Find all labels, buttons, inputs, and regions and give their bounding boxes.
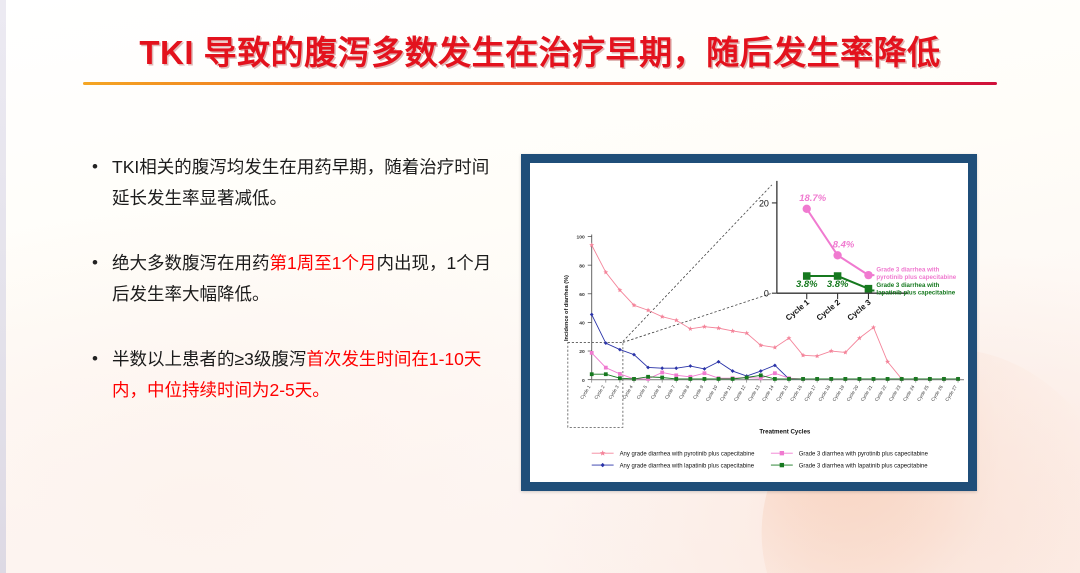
x-tick-label: Cycle 5 [636, 384, 649, 400]
bullet-marker: • [92, 152, 112, 214]
series-point [829, 377, 833, 381]
series-point [688, 326, 693, 331]
series-point [632, 377, 636, 381]
series-point [787, 377, 791, 381]
inset-y-tick-label: 20 [759, 198, 769, 208]
series-point [618, 372, 622, 376]
x-tick-label: Cycle 1 [579, 384, 592, 400]
legend-label: Any grade diarrhea with pyrotinib plus c… [620, 452, 755, 458]
legend-swatch-marker [780, 451, 784, 455]
inset-series-point [833, 251, 841, 259]
series-point [885, 359, 890, 364]
inset-data-label: 3.8% [827, 279, 849, 290]
y-tick-label: 0 [582, 378, 585, 384]
series-point [703, 371, 707, 375]
series-point [604, 341, 608, 345]
legend-label: Grade 3 diarrhea with pyrotinib plus cap… [799, 452, 929, 458]
diarrhea-incidence-chart: 020406080100Incidence of diarrhea (%)Cyc… [530, 163, 968, 482]
inset-x-tick-label: Cycle 3 [846, 297, 874, 322]
x-tick-label: Cycle 19 [832, 384, 846, 402]
bullet-plain-segment: 绝大多数腹泻在用药 [112, 253, 270, 273]
legend-swatch-marker [600, 450, 606, 455]
x-tick-label: Cycle 21 [860, 384, 874, 402]
x-tick-label: Cycle 13 [747, 384, 761, 402]
x-tick-label: Cycle 9 [692, 384, 705, 400]
chart-inner: 020406080100Incidence of diarrhea (%)Cyc… [530, 163, 968, 482]
series-point [815, 377, 819, 381]
series-point [730, 328, 735, 333]
series-point [660, 376, 664, 380]
series-point [716, 326, 721, 331]
bullet-plain-segment: 半数以上患者的≥3级腹泻 [112, 349, 306, 369]
inset-x-tick-label: Cycle 2 [815, 297, 843, 322]
x-tick-label: Cycle 24 [902, 384, 916, 402]
x-tick-label: Cycle 14 [761, 384, 775, 402]
x-tick-label: Cycle 3 [607, 384, 620, 400]
series-point [688, 377, 692, 381]
series-point [928, 377, 932, 381]
x-tick-label: Cycle 25 [916, 384, 930, 402]
legend-label: Grade 3 diarrhea with lapatinib plus cap… [799, 463, 929, 469]
bullet-marker: • [92, 344, 112, 406]
series-point [801, 377, 805, 381]
x-tick-label: Cycle 27 [944, 384, 958, 402]
inset-data-label: 3.8% [796, 279, 818, 290]
x-tick-label: Cycle 2 [593, 384, 606, 400]
series-point [674, 366, 678, 370]
x-tick-label: Cycle 18 [817, 384, 831, 402]
series-point [858, 377, 862, 381]
title-underline-rule [83, 82, 997, 85]
series-point [674, 377, 678, 381]
series-point [772, 345, 777, 350]
inset-data-label: 8.4% [833, 239, 855, 250]
x-tick-label: Cycle 22 [874, 384, 888, 402]
series-point [745, 376, 749, 380]
x-tick-label: Cycle 7 [664, 384, 677, 400]
inset-legend-pyrotinib-line1: Grade 3 diarrhea with [876, 267, 939, 274]
left-edge-strip [0, 0, 6, 573]
x-tick-label: Cycle 4 [622, 384, 635, 400]
inset-x-tick-label: Cycle 1 [784, 297, 812, 322]
bullet-item: •TKI相关的腹泻均发生在用药早期，随着治疗时间延长发生率显著减低。 [92, 152, 492, 214]
inset-data-label: 18.7% [799, 193, 826, 204]
bullet-list: •TKI相关的腹泻均发生在用药早期，随着治疗时间延长发生率显著减低。•绝大多数腹… [92, 152, 492, 440]
legend-swatch-marker [600, 463, 604, 467]
y-tick-label: 60 [579, 292, 585, 298]
series-point [618, 376, 622, 380]
series-point [618, 348, 622, 352]
y-axis-title: Incidence of diarrhea (%) [564, 275, 570, 341]
series-point [590, 351, 594, 355]
series-point [604, 366, 608, 370]
inset-legend-pyrotinib-line2: pyrotinib plus capecitabine [876, 274, 956, 281]
series-point [703, 367, 707, 371]
series-point [603, 270, 608, 275]
x-tick-label: Cycle 10 [705, 384, 719, 402]
bullet-marker: • [92, 248, 112, 310]
x-tick-label: Cycle 17 [803, 384, 817, 402]
x-axis-title: Treatment Cycles [759, 428, 811, 435]
series-point [731, 377, 735, 381]
x-tick-label: Cycle 20 [846, 384, 860, 402]
y-tick-label: 20 [579, 349, 585, 355]
inset-legend-lapatinib-line1: Grade 3 diarrhea with [876, 282, 939, 289]
series-point [900, 377, 904, 381]
series-point [872, 377, 876, 381]
x-tick-label: Cycle 16 [789, 384, 803, 402]
series-point [590, 372, 594, 376]
series-point [759, 373, 763, 377]
series-point [886, 377, 890, 381]
bullet-text: TKI相关的腹泻均发生在用药早期，随着治疗时间延长发生率显著减低。 [112, 152, 492, 214]
y-tick-label: 40 [579, 321, 585, 327]
bullet-plain-segment: TKI相关的腹泻均发生在用药早期，随着治疗时间延长发生率显著减低。 [112, 157, 489, 208]
inset-series-point [803, 205, 811, 213]
series-point [702, 324, 707, 329]
series-point [829, 348, 834, 353]
inset-legend-lapatinib-line2: lapatinib plus capecitabine [876, 289, 955, 296]
x-tick-label: Cycle 26 [930, 384, 944, 402]
bullet-text: 半数以上患者的≥3级腹泻首次发生时间在1-10天内，中位持续时间为2-5天。 [112, 344, 492, 406]
chart-panel: 020406080100Incidence of diarrhea (%)Cyc… [521, 154, 977, 491]
series-point [773, 377, 777, 381]
series-point [815, 353, 820, 358]
slide: TKI 导致的腹泻多数发生在治疗早期，随后发生率降低 •TKI相关的腹泻均发生在… [0, 0, 1080, 573]
page-title: TKI 导致的腹泻多数发生在治疗早期，随后发生率降低 [0, 26, 1080, 74]
x-tick-label: Cycle 8 [678, 384, 691, 400]
series-point [759, 369, 763, 373]
legend-swatch-marker [780, 463, 784, 467]
series-point [660, 371, 664, 375]
series-point [688, 364, 692, 368]
bullet-item: •半数以上患者的≥3级腹泻首次发生时间在1-10天内，中位持续时间为2-5天。 [92, 344, 492, 406]
bullet-item: •绝大多数腹泻在用药第1周至1个月内出现，1个月后发生率大幅降低。 [92, 248, 492, 310]
series-point [773, 371, 777, 375]
series-point [956, 377, 960, 381]
legend-label: Any grade diarrhea with lapatinib plus c… [620, 463, 755, 469]
series-point [843, 377, 847, 381]
series-point [914, 377, 918, 381]
series-point [674, 373, 678, 377]
series-point [646, 375, 650, 379]
x-tick-label: Cycle 12 [733, 384, 747, 402]
series-point [590, 313, 594, 317]
series-point [717, 377, 721, 381]
inset-connector-bottom [623, 185, 772, 342]
x-tick-label: Cycle 11 [719, 384, 733, 402]
series-point [703, 377, 707, 381]
title-container: TKI 导致的腹泻多数发生在治疗早期，随后发生率降低 [0, 26, 1080, 74]
x-tick-label: Cycle 23 [888, 384, 902, 402]
series-point [660, 314, 665, 319]
y-tick-label: 100 [576, 235, 585, 241]
series-point [604, 372, 608, 376]
bullet-highlight-segment: 第1周至1个月 [270, 253, 377, 273]
series-point [646, 308, 651, 313]
x-tick-label: Cycle 15 [775, 384, 789, 402]
inset-y-tick-label: 0 [764, 289, 769, 299]
y-tick-label: 80 [579, 263, 585, 269]
x-tick-label: Cycle 6 [650, 384, 663, 400]
series-point [942, 377, 946, 381]
series-point [660, 366, 664, 370]
bullet-text: 绝大多数腹泻在用药第1周至1个月内出现，1个月后发生率大幅降低。 [112, 248, 492, 310]
